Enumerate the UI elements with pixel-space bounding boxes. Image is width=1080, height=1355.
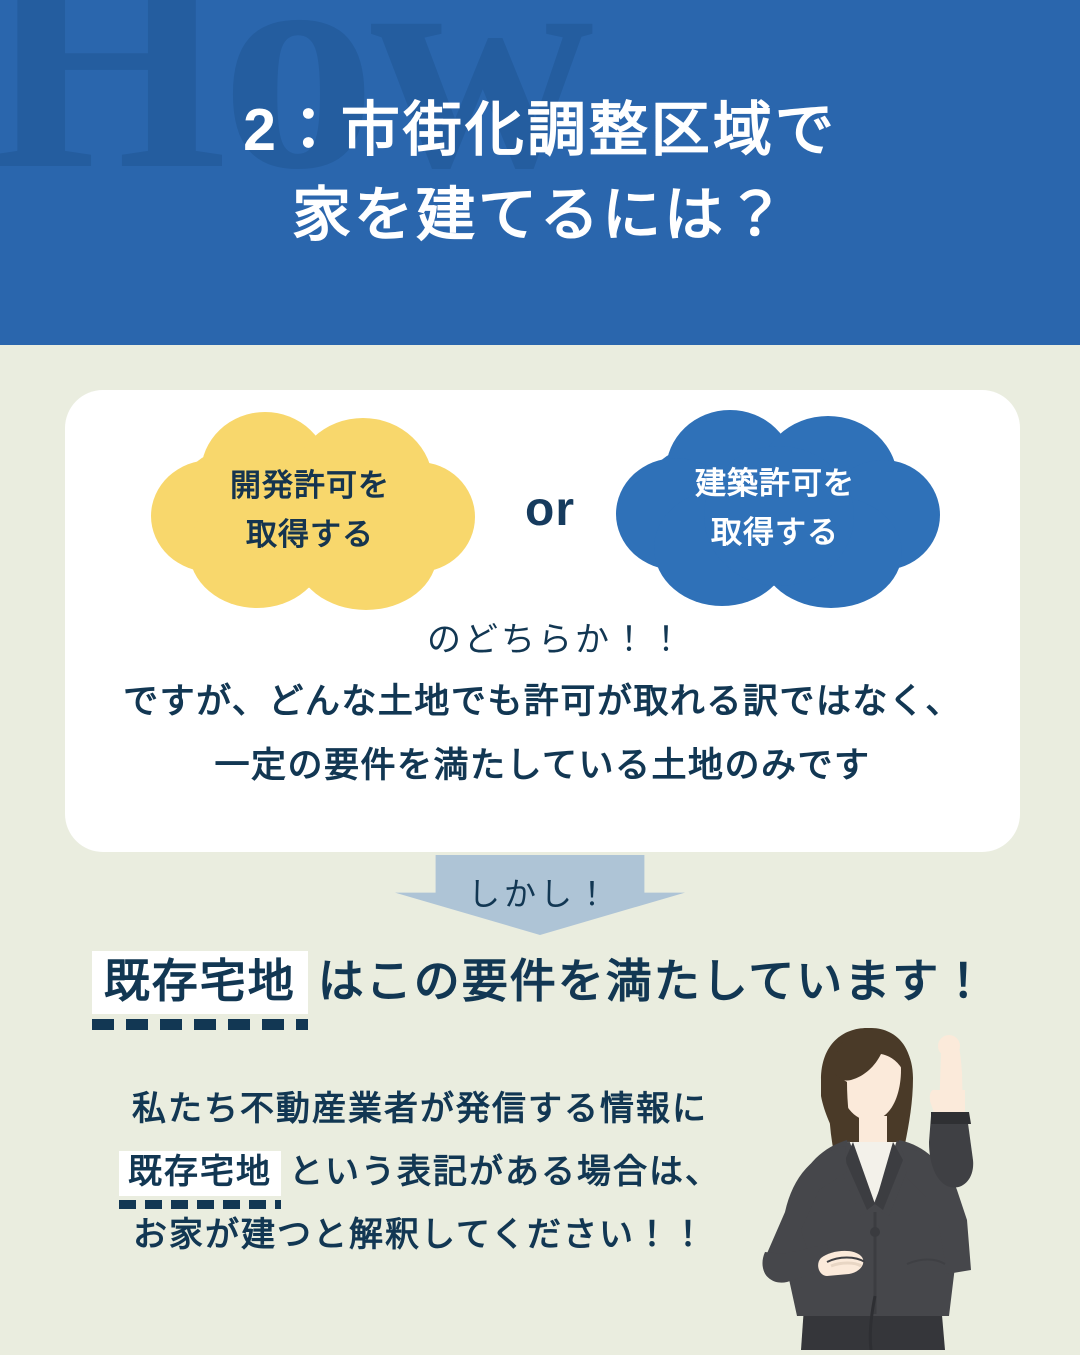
- key-point-headline: 既存宅地はこの要件を満たしています！: [0, 945, 1080, 1014]
- businesswoman-illustration: [735, 1020, 1080, 1350]
- card-body-line-2: 一定の要件を満たしている土地のみです: [65, 734, 1020, 798]
- page-header: How 2：市街化調整区域で 家を建てるには？: [0, 0, 1080, 345]
- or-separator-label: or: [495, 482, 605, 537]
- page-title-line-1: 2：市街化調整区域で: [0, 88, 1080, 173]
- either-option-note: のどちらか！！: [65, 612, 1020, 661]
- option-cloud-label-building: 建築許可を 取得する: [610, 460, 940, 558]
- option-cloud-label-development: 開発許可を 取得する: [145, 462, 475, 560]
- closing-note-line-3: お家が建つと解釈してください！！: [110, 1204, 730, 1267]
- closing-note-line-1: 私たち不動産業者が発信する情報に: [110, 1078, 730, 1141]
- options-row: 開発許可を 取得する or 建築許可を 取得する: [65, 390, 1020, 635]
- closing-note-line-2-rest: という表記がある場合は、: [289, 1153, 721, 1191]
- closing-note: 私たち不動産業者が発信する情報に 既存宅地という表記がある場合は、 お家が建つと…: [110, 1078, 730, 1267]
- card-body-text: ですが、どんな土地でも許可が取れる訳ではなく、 一定の要件を満たしている土地のみ…: [65, 670, 1020, 797]
- down-arrow-label: しかし！: [395, 869, 685, 915]
- option-cloud-building-permit: 建築許可を 取得する: [610, 410, 940, 610]
- info-card: 開発許可を 取得する or 建築許可を 取得する のどちらか！！ ですが、どんな…: [65, 390, 1020, 852]
- down-arrow-banner: しかし！: [395, 855, 685, 935]
- key-point-headline-rest: はこの要件を満たしています！: [318, 955, 989, 1007]
- option-cloud-development-permit: 開発許可を 取得する: [145, 412, 475, 612]
- page-title: 2：市街化調整区域で 家を建てるには？: [0, 88, 1080, 258]
- card-body-line-1: ですが、どんな土地でも許可が取れる訳ではなく、: [65, 670, 1020, 734]
- closing-note-line-2: 既存宅地という表記がある場合は、: [110, 1141, 730, 1204]
- highlight-term-existing-residential-land: 既存宅地: [92, 951, 308, 1014]
- page-title-line-2: 家を建てるには？: [0, 173, 1080, 258]
- highlight-term-existing-residential-land: 既存宅地: [119, 1151, 281, 1196]
